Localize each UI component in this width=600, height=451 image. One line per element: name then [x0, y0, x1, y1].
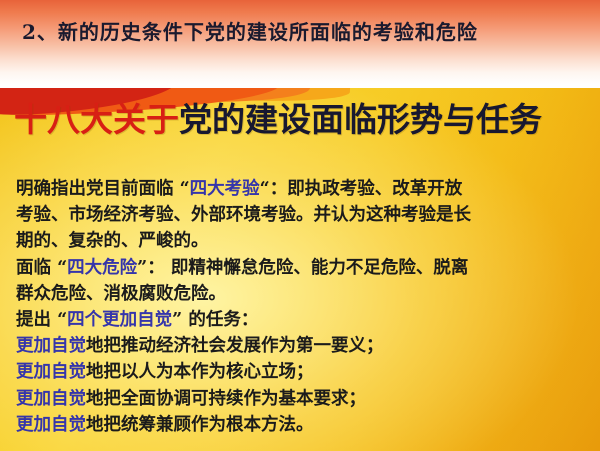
body-line: 更加自觉地把推动经济社会发展作为第一要义； [16, 333, 588, 359]
body-text-run: “：即执政考验、改革开放 [260, 179, 463, 199]
body-line: 更加自觉地把以人为本作为核心立场； [16, 359, 588, 385]
body-text-run: 地把全面协调可持续作为基本要求； [86, 389, 366, 409]
body-line: 群众危险、消极腐败危险。 [16, 281, 588, 307]
body-highlight-phrase: 更加自觉 [16, 336, 86, 356]
body-highlight-phrase: 更加自觉 [16, 362, 86, 382]
body-line: 期的、复杂的、严峻的。 [16, 228, 588, 254]
slide-section-heading: 2、新的历史条件下党的建设所面临的考验和危险 [22, 16, 478, 45]
body-text-run: 地把以人为本作为核心立场； [86, 362, 314, 382]
top-banner: 2、新的历史条件下党的建设所面临的考验和危险 [0, 0, 600, 88]
panel-title: 十八大关于党的建设面临形势与任务 [14, 103, 542, 136]
body-line: 面临 “四大危险”： 即精神懈怠危险、能力不足危险、脱离 [16, 255, 588, 281]
content-panel: 十八大关于党的建设面临形势与任务 明确指出党目前面临 “四大考验“：即执政考验、… [0, 88, 600, 451]
body-text-run: 提出 “ [16, 310, 67, 330]
body-line: 更加自觉地把全面协调可持续作为基本要求； [16, 386, 588, 412]
body-highlight-phrase: 四大危险 [67, 258, 137, 278]
body-text-run: 期的、复杂的、严峻的。 [16, 231, 209, 251]
body-line: 提出 “四个更加自觉” 的任务： [16, 307, 588, 333]
body-line: 考验、市场经济考验、外部环境考验。并认为这种考验是长 [16, 202, 588, 228]
body-highlight-phrase: 四个更加自觉 [67, 310, 172, 330]
body-text-run: 地把统筹兼顾作为根本方法。 [86, 415, 314, 435]
body-text-run: ”： 即精神懈怠危险、能力不足危险、脱离 [137, 258, 468, 278]
body-line: 更加自觉地把统筹兼顾作为根本方法。 [16, 412, 588, 438]
body-highlight-phrase: 更加自觉 [16, 415, 86, 435]
body-text-run: 明确指出党目前面临 “ [16, 179, 190, 199]
body-text-run: 面临 “ [16, 258, 67, 278]
panel-title-red-part: 十八大关于 [14, 100, 179, 139]
panel-body-text: 明确指出党目前面临 “四大考验“：即执政考验、改革开放考验、市场经济考验、外部环… [16, 176, 588, 438]
body-highlight-phrase: 更加自觉 [16, 389, 86, 409]
body-text-run: ” 的任务： [172, 310, 258, 330]
body-text-run: 群众危险、消极腐败危险。 [16, 284, 226, 304]
presentation-slide: 2、新的历史条件下党的建设所面临的考验和危险 十八大关于党的建设面临形势与任务 … [0, 0, 600, 451]
panel-title-dark-part: 党的建设面临形势与任务 [179, 100, 542, 139]
body-line: 明确指出党目前面临 “四大考验“：即执政考验、改革开放 [16, 176, 588, 202]
body-highlight-phrase: 四大考验 [190, 179, 260, 199]
body-text-run: 考验、市场经济考验、外部环境考验。并认为这种考验是长 [16, 205, 471, 225]
body-text-run: 地把推动经济社会发展作为第一要义； [86, 336, 384, 356]
